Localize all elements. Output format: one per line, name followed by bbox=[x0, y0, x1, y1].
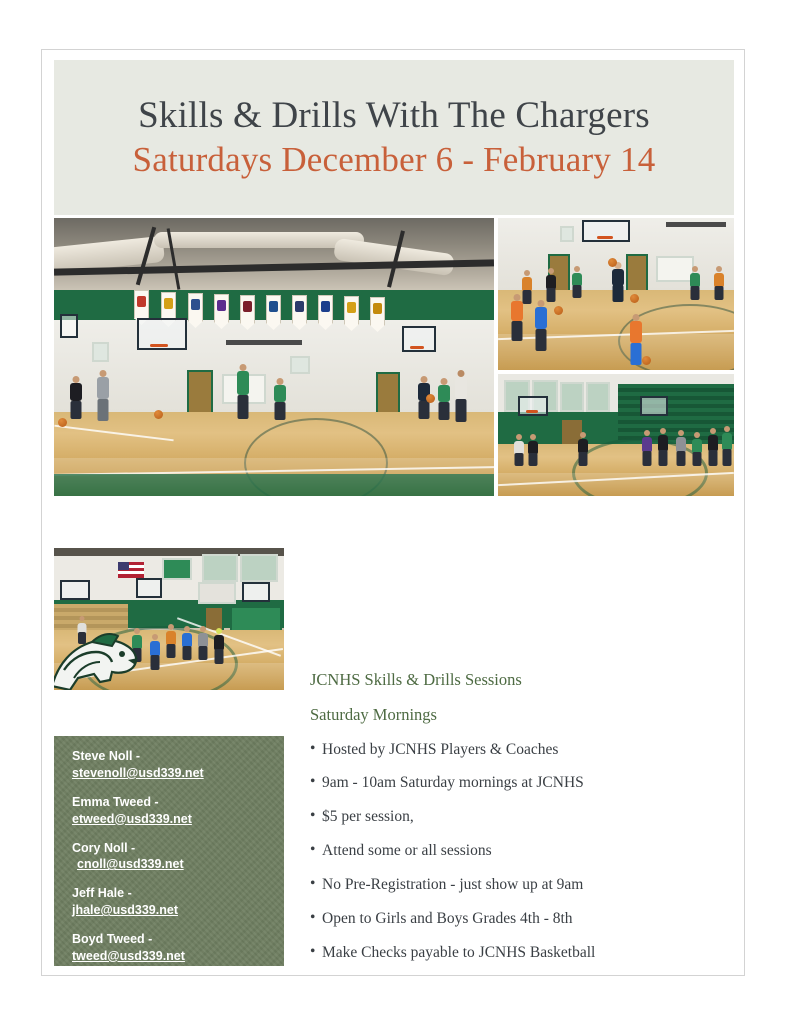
player-figure bbox=[610, 262, 626, 302]
player-figure bbox=[234, 364, 252, 420]
championship-banner bbox=[161, 292, 176, 321]
lower-section: Steve Noll - stevenoll@usd339.net Emma T… bbox=[54, 548, 734, 966]
player-figure bbox=[688, 266, 702, 300]
gym-door bbox=[376, 372, 400, 416]
player-figure bbox=[640, 430, 653, 466]
contact-email-link[interactable]: etweed@usd339.net bbox=[72, 811, 284, 828]
session-details-list: Hosted by JCNHS Players & Coaches 9am - … bbox=[310, 740, 730, 963]
player-figure bbox=[512, 434, 525, 466]
basketball-rim bbox=[410, 346, 424, 349]
contact-name: Steve Noll - bbox=[72, 748, 284, 765]
player-figure bbox=[272, 378, 287, 420]
list-item: $5 per session, bbox=[310, 807, 730, 827]
header-banner: Skills & Drills With The Chargers Saturd… bbox=[54, 60, 734, 215]
basketball bbox=[58, 418, 67, 427]
wall-plaque bbox=[290, 356, 310, 374]
basketball bbox=[154, 410, 163, 419]
player-figure bbox=[576, 432, 589, 466]
ceiling-duct bbox=[154, 232, 364, 248]
championship-banner bbox=[188, 293, 203, 322]
list-item: No Pre-Registration - just show up at 9a… bbox=[310, 875, 730, 895]
contact-name: Cory Noll - bbox=[72, 840, 284, 857]
contact-entry: Steve Noll - stevenoll@usd339.net bbox=[72, 748, 284, 782]
player-figure bbox=[656, 428, 669, 466]
basketball-rim bbox=[150, 344, 168, 347]
contact-entry: Boyd Tweed - tweed@usd339.net bbox=[72, 931, 284, 965]
basketball-backboard-side bbox=[60, 314, 78, 338]
photo-kids-lined-up bbox=[498, 374, 734, 496]
championship-banner bbox=[292, 295, 307, 324]
contact-email-link[interactable]: stevenoll@usd339.net bbox=[72, 765, 284, 782]
photo-dribbling-drill bbox=[498, 218, 734, 370]
record-board bbox=[560, 382, 584, 412]
floor-reflection bbox=[54, 458, 494, 496]
basketball bbox=[630, 294, 639, 303]
contact-name: Emma Tweed - bbox=[72, 794, 284, 811]
basketball bbox=[426, 394, 435, 403]
player-figure bbox=[712, 266, 726, 300]
contact-entry: Emma Tweed - etweed@usd339.net bbox=[72, 794, 284, 828]
basketball-backboard bbox=[518, 396, 548, 416]
basketball-rim bbox=[597, 236, 613, 239]
player-figure bbox=[706, 428, 719, 466]
player-figure bbox=[720, 426, 733, 466]
info-heading-secondary: Saturday Mornings bbox=[310, 705, 730, 725]
basketball-rim bbox=[526, 410, 538, 413]
photo-gymnasium-wide bbox=[54, 218, 494, 496]
page-title: Skills & Drills With The Chargers bbox=[138, 95, 650, 138]
floor-reflection bbox=[498, 473, 734, 496]
info-heading-primary: JCNHS Skills & Drills Sessions bbox=[310, 670, 730, 690]
player-figure bbox=[544, 268, 558, 302]
court-line bbox=[54, 425, 173, 442]
player-figure bbox=[690, 432, 703, 466]
list-item: Attend some or all sessions bbox=[310, 841, 730, 861]
championship-banner bbox=[370, 297, 385, 326]
record-board bbox=[586, 382, 610, 412]
player-figure bbox=[68, 376, 84, 420]
gym-door bbox=[187, 370, 213, 416]
list-item: Hosted by JCNHS Players & Coaches bbox=[310, 740, 730, 760]
wall-plaque bbox=[92, 342, 109, 362]
player-figure bbox=[674, 430, 687, 466]
contact-name: Jeff Hale - bbox=[72, 885, 284, 902]
basketball bbox=[554, 306, 563, 315]
basketball bbox=[608, 258, 617, 267]
player-figure bbox=[94, 370, 112, 422]
basketball-backboard bbox=[640, 396, 668, 416]
contact-entry: Jeff Hale - jhale@usd339.net bbox=[72, 885, 284, 919]
contact-email-link[interactable]: cnoll@usd339.net bbox=[72, 856, 284, 873]
contact-email-link[interactable]: tweed@usd339.net bbox=[72, 948, 284, 965]
player-figure bbox=[436, 378, 451, 420]
championship-banner bbox=[240, 295, 255, 324]
gym-door bbox=[626, 254, 648, 292]
player-figure bbox=[526, 434, 539, 466]
list-item: Open to Girls and Boys Grades 4th - 8th bbox=[310, 909, 730, 929]
page-subtitle: Saturdays December 6 - February 14 bbox=[133, 140, 656, 180]
wall-plaque bbox=[560, 226, 574, 242]
list-item: Make Checks payable to JCNHS Basketball bbox=[310, 943, 730, 963]
flyer-page: Skills & Drills With The Chargers Saturd… bbox=[41, 49, 745, 976]
championship-banner bbox=[266, 295, 281, 324]
contact-list-box: Steve Noll - stevenoll@usd339.net Emma T… bbox=[54, 736, 284, 966]
championship-banner bbox=[318, 295, 333, 324]
player-figure bbox=[520, 270, 534, 304]
championship-banner bbox=[214, 294, 229, 323]
contact-email-link[interactable]: jhale@usd339.net bbox=[72, 902, 284, 919]
player-figure bbox=[452, 370, 469, 424]
championship-banner bbox=[134, 290, 149, 319]
player-figure bbox=[532, 300, 550, 352]
contact-entry: Cory Noll - cnoll@usd339.net bbox=[72, 840, 284, 874]
wall-rail bbox=[226, 340, 302, 345]
basketball bbox=[642, 356, 651, 365]
contact-name: Boyd Tweed - bbox=[72, 931, 284, 948]
session-info-panel: JCNHS Skills & Drills Sessions Saturday … bbox=[310, 670, 730, 976]
player-figure bbox=[570, 266, 584, 298]
gym-floor bbox=[54, 412, 494, 496]
championship-banner bbox=[344, 296, 359, 325]
wall-rail bbox=[666, 222, 726, 227]
list-item: 9am - 10am Saturday mornings at JCNHS bbox=[310, 773, 730, 793]
photo-collage bbox=[54, 218, 734, 496]
